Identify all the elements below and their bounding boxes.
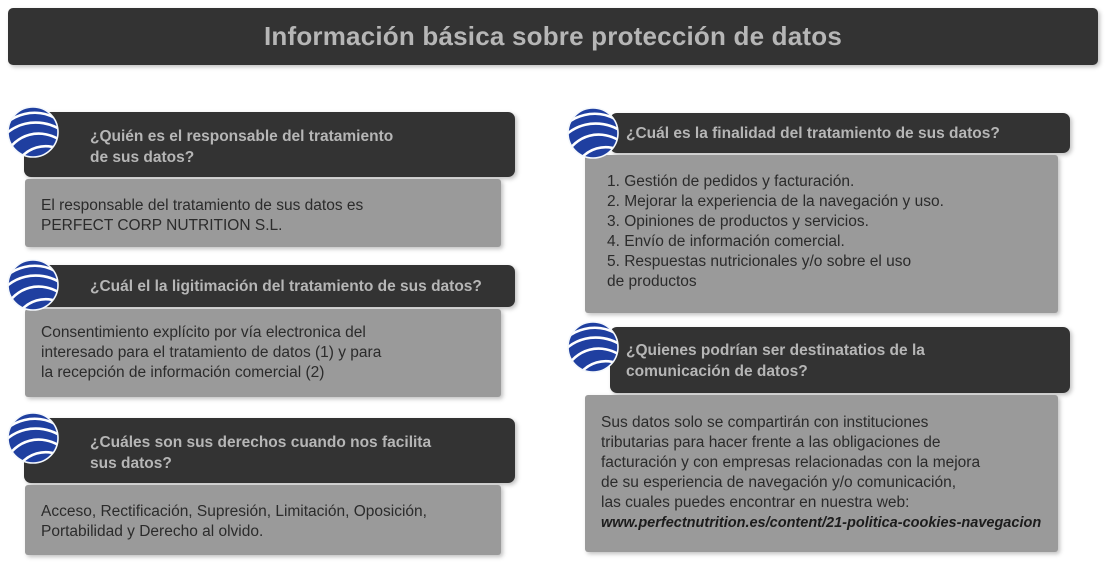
page-header-banner: Información básica sobre protección de d…: [8, 8, 1098, 65]
globe-logo-icon: [5, 410, 61, 466]
card-answer-destinatarios: Sus datos solo se compartirán con instit…: [601, 413, 980, 513]
card-header-legitimacion: ¿Cuál el la ligitimación del tratamiento…: [24, 265, 515, 307]
card-question-responsable: ¿Quién es el responsable del tratamiento…: [90, 126, 393, 168]
card-answer-legitimacion: Consentimiento explícito por vía electro…: [41, 323, 381, 383]
globe-logo-icon: [5, 104, 61, 160]
card-body-legitimacion: Consentimiento explícito por vía electro…: [25, 309, 501, 397]
card-body-responsable: El responsable del tratamiento de sus da…: [25, 179, 501, 247]
card-header-responsable: ¿Quién es el responsable del tratamiento…: [24, 112, 515, 177]
policy-url-link[interactable]: www.perfectnutrition.es/content/21-polit…: [601, 513, 1041, 533]
card-answer-derechos: Acceso, Rectificación, Supresión, Limita…: [41, 502, 427, 542]
card-question-derechos: ¿Cuáles son sus derechos cuando nos faci…: [90, 432, 431, 474]
card-header-derechos: ¿Cuáles son sus derechos cuando nos faci…: [24, 418, 515, 483]
globe-logo-icon: [565, 105, 621, 161]
card-header-finalidad: ¿Cuál es la finalidad del tratamiento de…: [610, 113, 1070, 153]
card-question-finalidad: ¿Cuál es la finalidad del tratamiento de…: [626, 123, 1000, 144]
card-answer-finalidad: 1. Gestión de pedidos y facturación. 2. …: [607, 172, 944, 292]
card-body-finalidad: 1. Gestión de pedidos y facturación. 2. …: [585, 155, 1058, 313]
card-body-destinatarios: Sus datos solo se compartirán con instit…: [585, 395, 1058, 552]
card-answer-responsable: El responsable del tratamiento de sus da…: [41, 196, 363, 236]
card-header-destinatarios: ¿Quienes podrían ser destinatatios de la…: [610, 327, 1070, 393]
globe-logo-icon: [565, 319, 621, 375]
globe-logo-icon: [5, 257, 61, 313]
card-question-legitimacion: ¿Cuál el la ligitimación del tratamiento…: [90, 276, 482, 297]
page-title: Información básica sobre protección de d…: [264, 21, 842, 52]
card-question-destinatarios: ¿Quienes podrían ser destinatatios de la…: [626, 340, 925, 382]
card-body-derechos: Acceso, Rectificación, Supresión, Limita…: [25, 485, 501, 555]
